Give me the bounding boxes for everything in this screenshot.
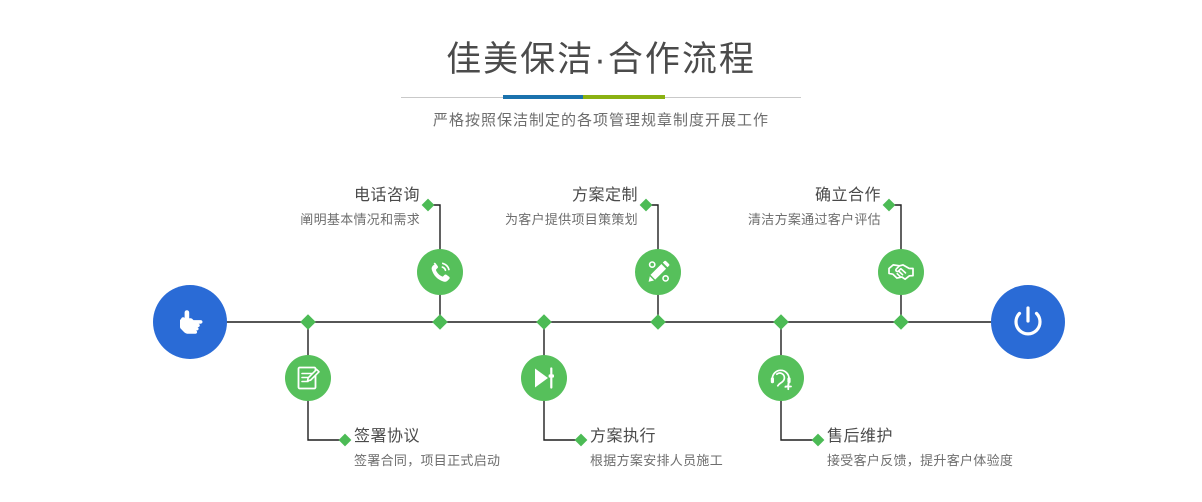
step-icon-plan-customize[interactable] (635, 249, 681, 295)
flow-start-node[interactable] (153, 285, 227, 359)
process-flow-infographic: 佳美保洁·合作流程 严格按照保洁制定的各项管理规章制度开展工作 (0, 0, 1202, 502)
step-icon-sign-agreement[interactable] (285, 355, 331, 401)
timeline-node-diamond-3 (536, 314, 552, 330)
timeline-node-diamond-2 (432, 314, 448, 330)
step-title: 方案执行 (590, 426, 850, 448)
headset-support-icon (767, 364, 795, 392)
step-icon-plan-execute[interactable] (521, 355, 567, 401)
step-desc: 阐明基本情况和需求 (170, 207, 420, 230)
step-desc: 为客户提供项目策策划 (396, 207, 638, 230)
label-marker-diamond-upper-3 (883, 199, 896, 212)
step-title: 确立合作 (635, 185, 881, 207)
step-label-after-sales: 售后维护 接受客户反馈，提升客户体验度 (827, 426, 1107, 471)
pencil-edit-icon (644, 258, 672, 286)
play-execute-icon (530, 364, 558, 392)
step-label-sign-agreement: 签署协议 签署合同，项目正式启动 (354, 426, 614, 471)
step-label-plan-execute: 方案执行 根据方案安排人员施工 (590, 426, 850, 471)
step-desc: 清洁方案通过客户评估 (635, 207, 881, 230)
timeline-node-diamond-5 (773, 314, 789, 330)
label-marker-diamond-lower-1 (339, 434, 352, 447)
timeline-node-diamond-6 (893, 314, 909, 330)
step-title: 签署协议 (354, 426, 614, 448)
flow-diagram: 电话咨询 阐明基本情况和需求 方案定制 为客户提供项目策策划 确立合作 清洁方案… (0, 0, 1202, 502)
step-title: 方案定制 (396, 185, 638, 207)
timeline-node-diamond-1 (300, 314, 316, 330)
document-sign-icon (294, 364, 322, 392)
step-desc: 签署合同，项目正式启动 (354, 448, 614, 471)
pointing-hand-icon (170, 302, 210, 342)
step-label-establish-cooperation: 确立合作 清洁方案通过客户评估 (635, 185, 881, 230)
step-desc: 接受客户反馈，提升客户体验度 (827, 448, 1107, 471)
timeline-node-diamond-4 (650, 314, 666, 330)
handshake-icon (886, 257, 916, 287)
step-label-phone-consult: 电话咨询 阐明基本情况和需求 (170, 185, 420, 230)
phone-call-icon (426, 258, 454, 286)
step-icon-phone-consult[interactable] (417, 249, 463, 295)
step-icon-after-sales[interactable] (758, 355, 804, 401)
step-desc: 根据方案安排人员施工 (590, 448, 850, 471)
step-icon-establish-cooperation[interactable] (878, 249, 924, 295)
step-title: 售后维护 (827, 426, 1107, 448)
step-title: 电话咨询 (170, 185, 420, 207)
step-label-plan-customize: 方案定制 为客户提供项目策策划 (396, 185, 638, 230)
power-icon (1007, 301, 1049, 343)
flow-end-node[interactable] (991, 285, 1065, 359)
